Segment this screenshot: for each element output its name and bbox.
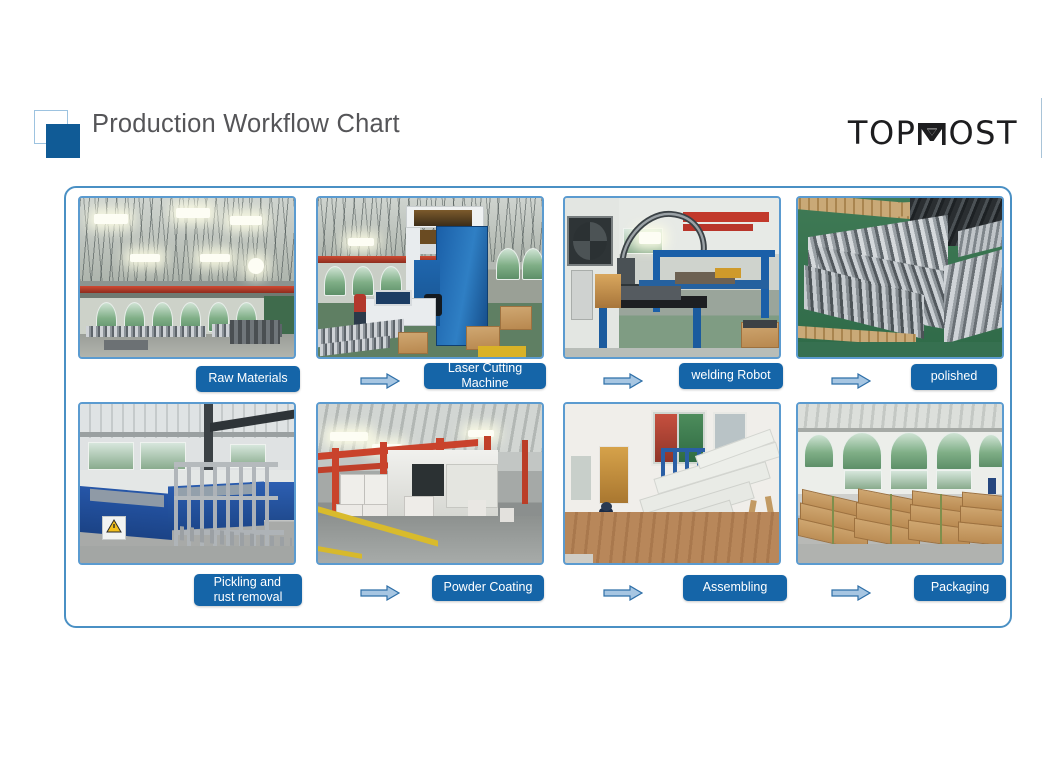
right-arrow-icon xyxy=(603,585,643,601)
photo-packaging xyxy=(796,402,1004,565)
step-label-laser-cutting-machine[interactable]: Laser Cutting Machine xyxy=(424,363,546,389)
header-divider xyxy=(1041,98,1043,158)
page-title: Production Workflow Chart xyxy=(92,110,400,139)
workflow-row-2: Pickling and rust removal xyxy=(66,402,1014,605)
step-label-assembling[interactable]: Assembling xyxy=(683,575,787,601)
step-label-packaging[interactable]: Packaging xyxy=(914,575,1006,601)
photo-powder-coating xyxy=(316,402,544,565)
brand-logo: TOP OST xyxy=(848,104,1018,162)
step-label-polished[interactable]: polished xyxy=(911,364,997,390)
photo-polished xyxy=(796,196,1004,359)
brand-suffix: OST xyxy=(948,117,1018,149)
step-label-powder-coating[interactable]: Powder Coating xyxy=(432,575,544,601)
brand-prefix: TOP xyxy=(848,117,917,149)
photo-raw-materials xyxy=(78,196,296,359)
logo-square-filled xyxy=(46,124,80,158)
photo-laser-cutting-machine xyxy=(316,196,544,359)
right-arrow-icon xyxy=(360,373,400,389)
photo-welding-robot xyxy=(563,196,781,359)
brand-wordmark: TOP OST xyxy=(848,117,1018,149)
two-squares-logo-icon xyxy=(34,110,86,156)
step-label-welding-robot[interactable]: welding Robot xyxy=(679,363,783,389)
right-arrow-icon xyxy=(603,373,643,389)
step-label-pickling-rust-removal[interactable]: Pickling and rust removal xyxy=(194,574,302,606)
right-arrow-icon xyxy=(831,373,871,389)
right-arrow-icon xyxy=(360,585,400,601)
step-label-raw-materials[interactable]: Raw Materials xyxy=(196,366,300,392)
workflow-row-1: Raw Materials xyxy=(66,196,1014,399)
photo-assembling xyxy=(563,402,781,565)
brand-m-glyph-icon xyxy=(917,120,947,144)
photo-pickling-rust-removal xyxy=(78,402,296,565)
right-arrow-icon xyxy=(831,585,871,601)
page-header: Production Workflow Chart TOP OST xyxy=(0,96,1060,168)
workflow-card: Raw Materials xyxy=(64,186,1012,628)
